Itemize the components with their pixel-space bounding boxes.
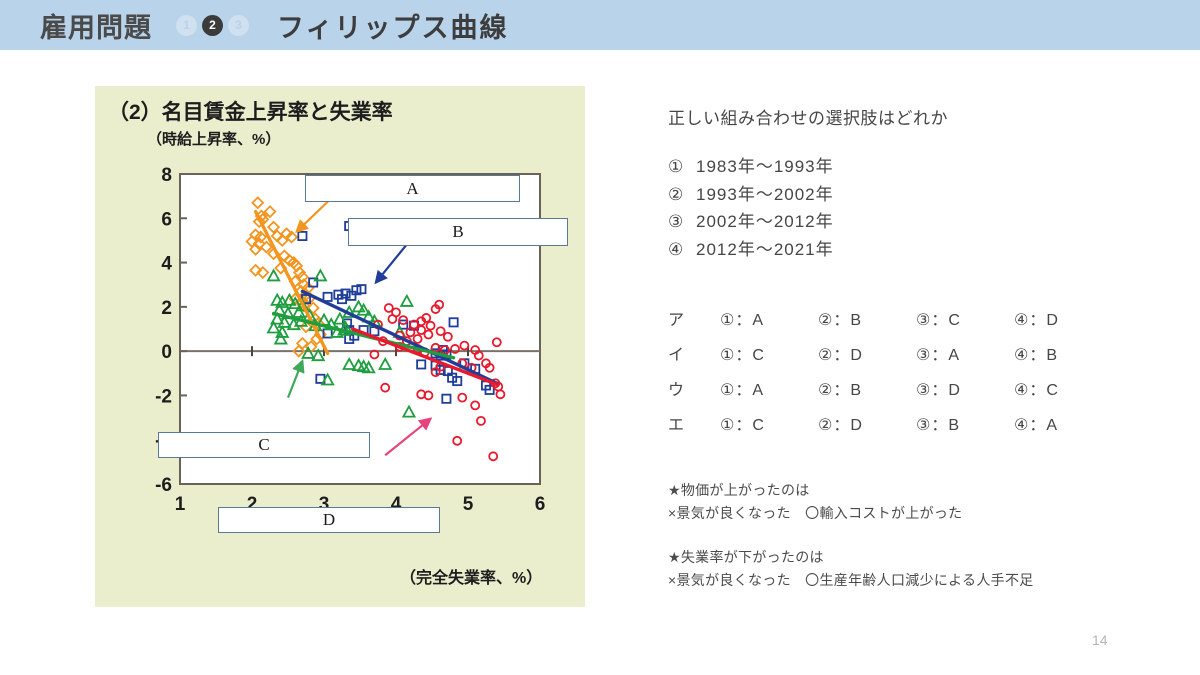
page-number: 14 — [1092, 632, 1108, 648]
answer-row-i[interactable]: イ ①：C ②：D ③：A ④：B — [668, 338, 1168, 373]
answer-row-i-cell-3: ③：A — [916, 348, 1014, 364]
chart-x-axis-caption: （完全失業率、%） — [400, 564, 542, 588]
answer-row-i-cell-2: ②：D — [818, 348, 916, 364]
note-prices: ★物価が上がったのは ×景気が良くなった 〇輸入コストが上がった — [668, 479, 1168, 524]
answer-row-u-cell-2: ②：B — [818, 383, 916, 399]
answer-row-e-cell-2: ②：D — [818, 418, 916, 434]
answer-row-e-cell-3: ③：B — [916, 418, 1014, 434]
answer-row-a-cell-3: ③：C — [916, 313, 1014, 329]
period-choice-2-text: 1993年～2002年 — [696, 185, 834, 204]
note-unemployment: ★失業率が下がったのは ×景気が良くなった 〇生産年齢人口減少による人手不足 — [668, 546, 1168, 591]
callout-box-b[interactable]: B — [348, 218, 568, 246]
svg-text:4: 4 — [161, 254, 172, 275]
answer-row-e-cell-4: ④：A — [1014, 418, 1112, 434]
answer-row-u-cell-3: ③：D — [916, 383, 1014, 399]
answer-row-i-cell-4: ④：B — [1014, 348, 1112, 364]
step-indicator: 1 2 3 — [176, 15, 249, 36]
svg-text:2: 2 — [161, 298, 172, 319]
answer-row-e-cell-1: ①：C — [720, 418, 818, 434]
callout-box-a[interactable]: A — [305, 175, 520, 202]
svg-text:-2: -2 — [155, 386, 172, 407]
period-choice-3-number: ③ — [668, 208, 696, 236]
step-indicator-1[interactable]: 1 — [176, 15, 197, 36]
answer-option-table: ア ①：A ②：B ③：C ④：D イ ①：C ②：D ③：A ④：B ウ ①：… — [668, 303, 1168, 443]
answer-row-a[interactable]: ア ①：A ②：B ③：C ④：D — [668, 303, 1168, 338]
answer-row-i-key: イ — [668, 348, 720, 364]
answer-row-e[interactable]: エ ①：C ②：D ③：B ④：A — [668, 408, 1168, 443]
answer-row-a-cell-1: ①：A — [720, 313, 818, 329]
step-indicator-2[interactable]: 2 — [202, 15, 223, 36]
svg-text:-6: -6 — [155, 475, 172, 496]
period-choice-4-text: 2012年～2021年 — [696, 240, 834, 259]
step-indicator-3[interactable]: 3 — [228, 15, 249, 36]
answer-row-a-cell-4: ④：D — [1014, 313, 1112, 329]
period-choice-4: ④2012年～2021年 — [668, 236, 1168, 264]
period-choice-list: ①1983年～1993年 ②1993年～2002年 ③2002年～2012年 ④… — [668, 153, 1168, 263]
answer-row-a-key: ア — [668, 313, 720, 329]
answer-row-i-cell-1: ①：C — [720, 348, 818, 364]
period-choice-2: ②1993年～2002年 — [668, 181, 1168, 209]
note-unemployment-heading: ★失業率が下がったのは — [668, 546, 1168, 569]
question-panel: 正しい組み合わせの選択肢はどれか ①1983年～1993年 ②1993年～200… — [668, 104, 1168, 614]
note-prices-heading: ★物価が上がったのは — [668, 479, 1168, 502]
svg-text:6: 6 — [161, 209, 172, 230]
period-choice-3-text: 2002年～2012年 — [696, 212, 834, 231]
callout-box-d[interactable]: D — [218, 507, 440, 533]
svg-text:5: 5 — [463, 494, 474, 515]
svg-text:6: 6 — [535, 494, 546, 515]
svg-text:0: 0 — [161, 342, 172, 363]
period-choice-1-text: 1983年～1993年 — [696, 157, 834, 176]
period-choice-1-number: ① — [668, 153, 696, 181]
answer-row-u-cell-4: ④：C — [1014, 383, 1112, 399]
note-prices-body: ×景気が良くなった 〇輸入コストが上がった — [668, 502, 1168, 525]
answer-row-a-cell-2: ②：B — [818, 313, 916, 329]
answer-row-e-key: エ — [668, 418, 720, 434]
svg-text:8: 8 — [161, 166, 172, 186]
period-choice-3: ③2002年～2012年 — [668, 208, 1168, 236]
note-unemployment-body: ×景気が良くなった 〇生産年齢人口減少による人手不足 — [668, 569, 1168, 592]
header-bar: 雇用問題 1 2 3 フィリップス曲線 — [0, 0, 1200, 50]
chart-y-axis-caption: （時給上昇率、%） — [147, 128, 280, 149]
answer-row-u-key: ウ — [668, 383, 720, 399]
chart-title: （2）名目賃金上昇率と失業率 — [108, 96, 393, 126]
slide-root: 雇用問題 1 2 3 フィリップス曲線 （2）名目賃金上昇率と失業率 （時給上昇… — [0, 0, 1200, 675]
period-choice-4-number: ④ — [668, 236, 696, 264]
period-choice-2-number: ② — [668, 181, 696, 209]
answer-row-u-cell-1: ①：A — [720, 383, 818, 399]
callout-box-c[interactable]: C — [158, 432, 370, 458]
period-choice-1: ①1983年～1993年 — [668, 153, 1168, 181]
page-title: 雇用問題 — [40, 6, 152, 45]
question-prompt: 正しい組み合わせの選択肢はどれか — [668, 104, 1168, 129]
answer-row-u[interactable]: ウ ①：A ②：B ③：D ④：C — [668, 373, 1168, 408]
svg-text:1: 1 — [175, 494, 186, 515]
header-subtitle: フィリップス曲線 — [277, 6, 508, 45]
